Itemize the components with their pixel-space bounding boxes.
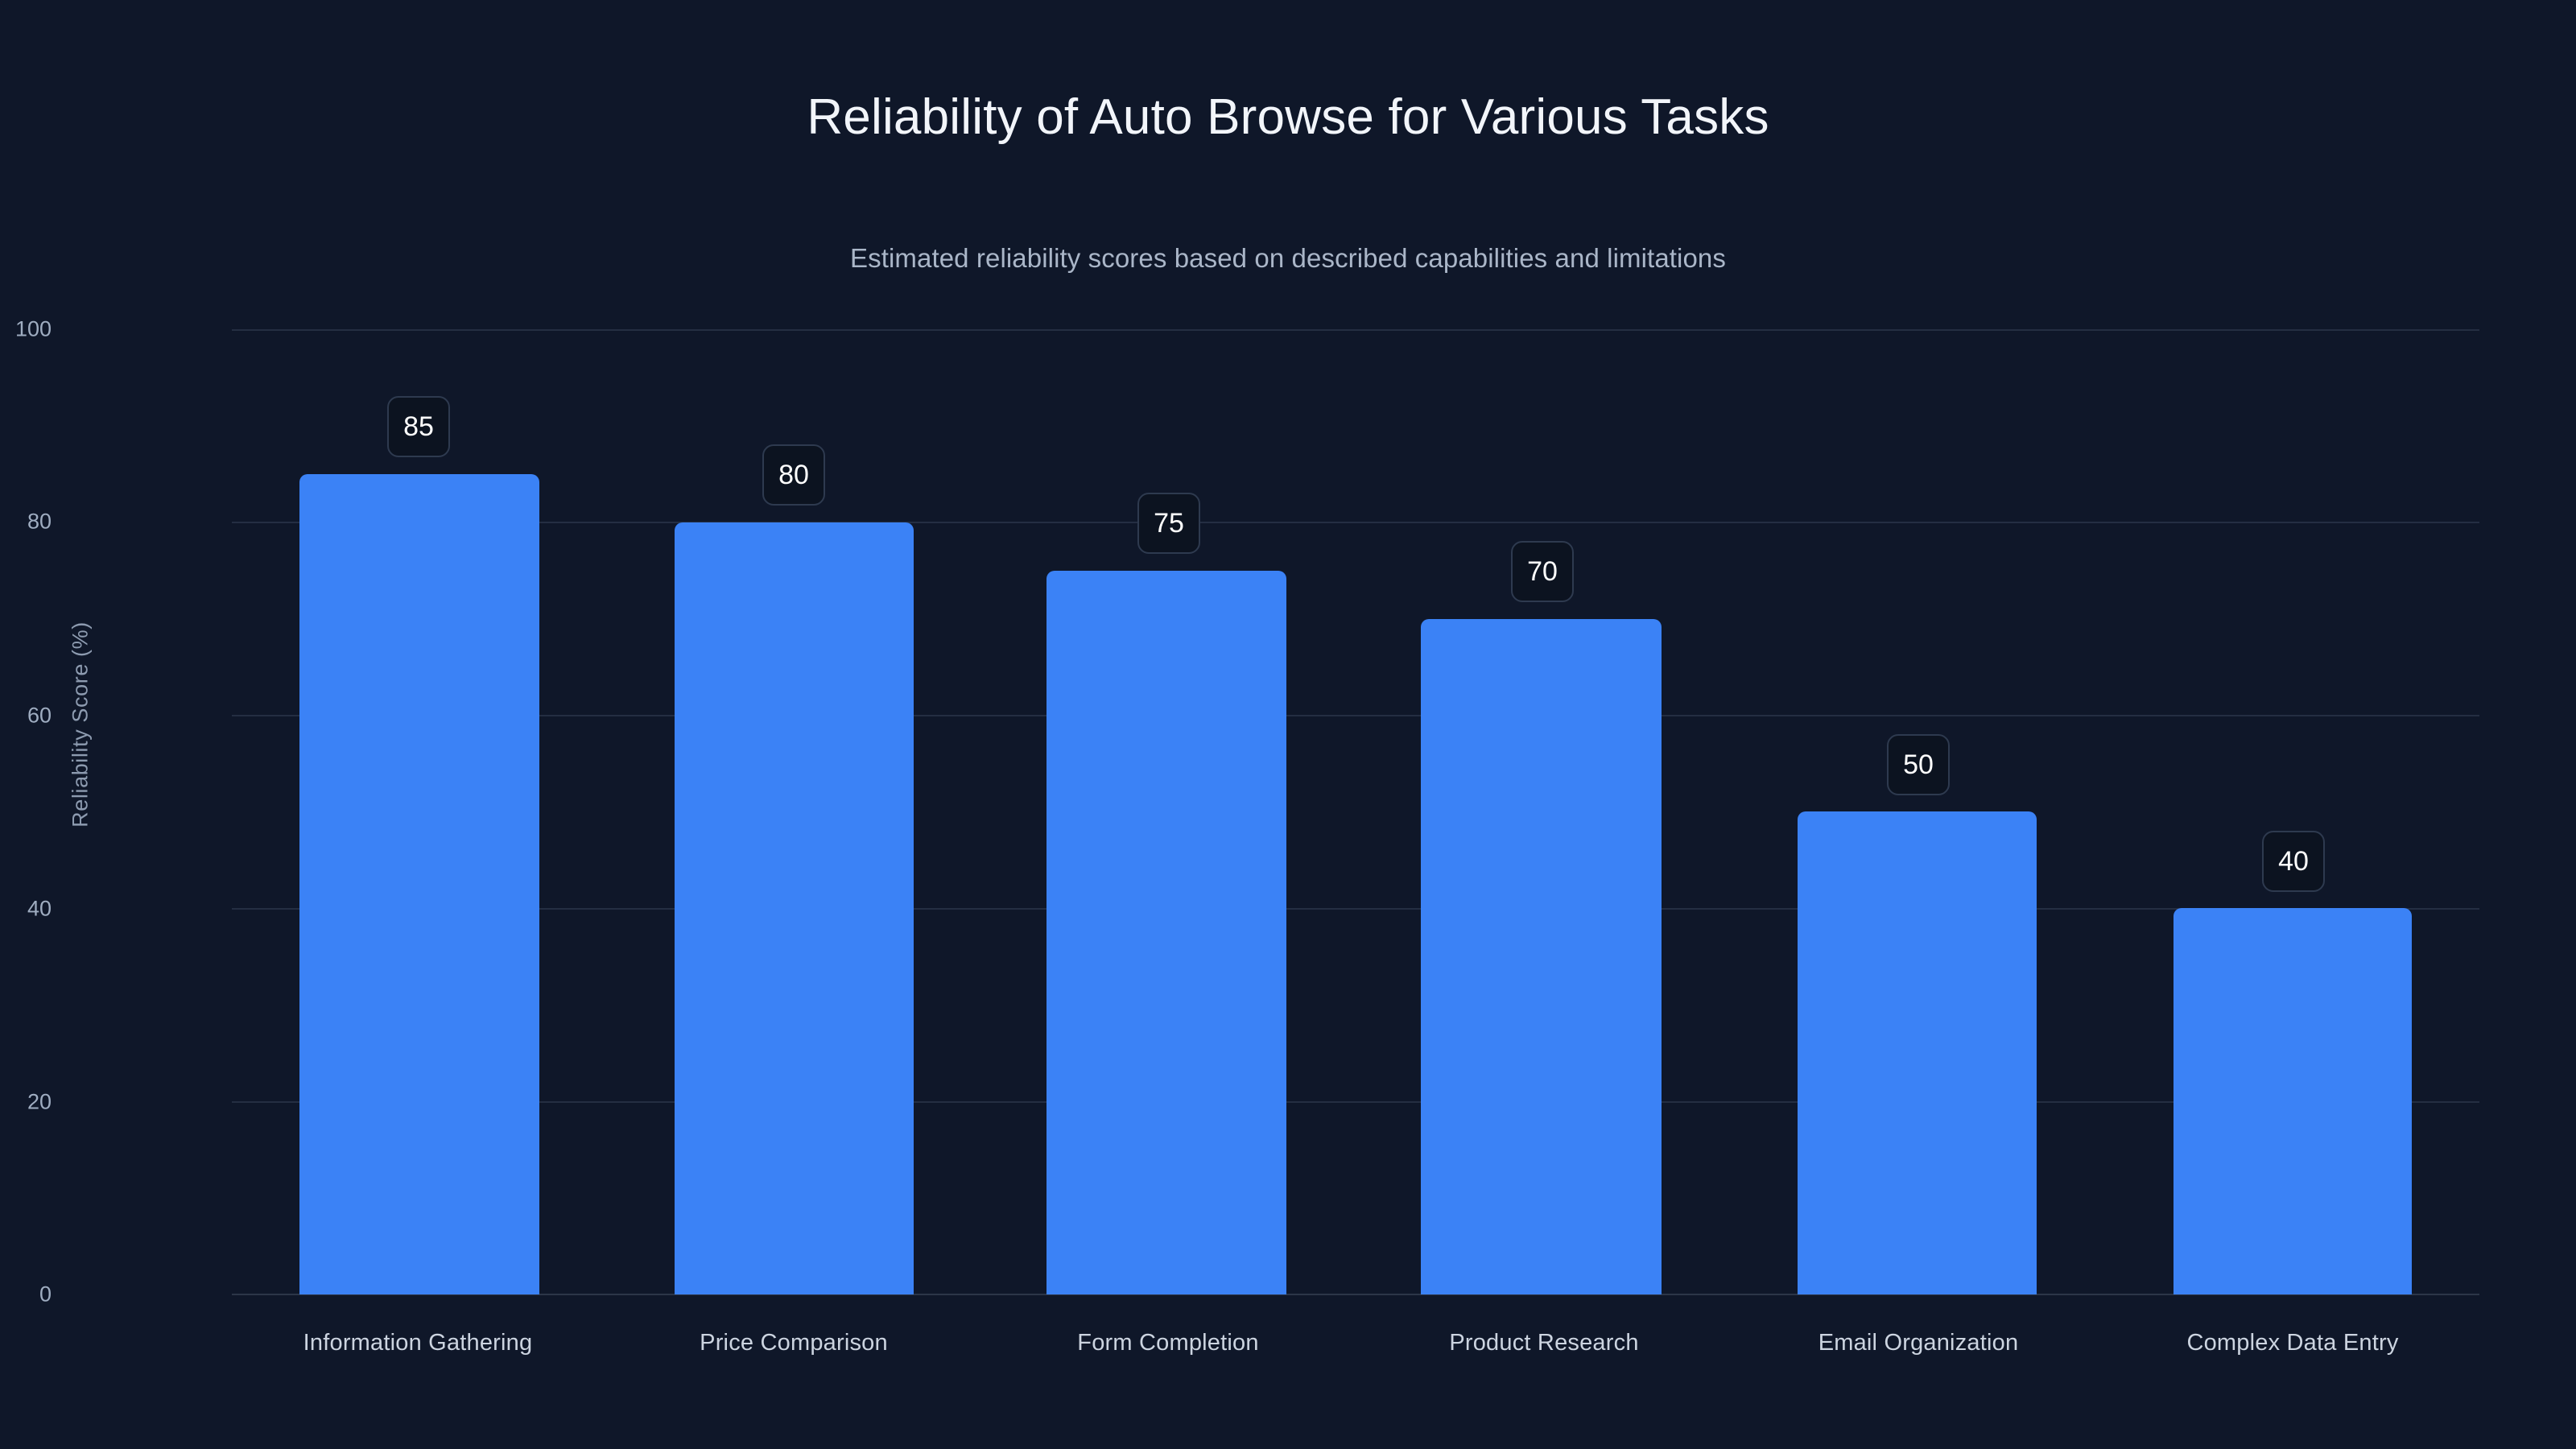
bar-price-comparison[interactable]	[675, 522, 914, 1294]
x-tick-information-gathering: Information Gathering	[208, 1330, 627, 1356]
axis-baseline	[232, 1294, 2479, 1295]
x-tick-form-completion: Form Completion	[959, 1330, 1377, 1356]
bar-email-organization[interactable]	[1798, 811, 2037, 1294]
value-badge-information-gathering: 85	[387, 396, 450, 457]
gridline-100	[232, 329, 2479, 331]
value-badge-form-completion: 75	[1137, 493, 1200, 554]
gridline-60	[232, 715, 2479, 716]
chart-subtitle: Estimated reliability scores based on de…	[0, 243, 2576, 274]
value-badge-price-comparison: 80	[762, 444, 825, 506]
bar-product-research[interactable]	[1421, 619, 1662, 1294]
y-tick-60: 60	[0, 704, 52, 729]
bar-information-gathering[interactable]	[299, 474, 539, 1294]
x-tick-email-organization: Email Organization	[1709, 1330, 2128, 1356]
plot-area	[232, 329, 2479, 1294]
y-tick-100: 100	[0, 317, 52, 342]
y-axis-title: Reliability Score (%)	[68, 621, 93, 828]
x-tick-complex-data-entry: Complex Data Entry	[2083, 1330, 2502, 1356]
gridline-20	[232, 1101, 2479, 1103]
gridline-40	[232, 908, 2479, 910]
y-tick-20: 20	[0, 1090, 52, 1115]
x-tick-price-comparison: Price Comparison	[584, 1330, 1003, 1356]
x-tick-product-research: Product Research	[1335, 1330, 1753, 1356]
y-tick-80: 80	[0, 510, 52, 535]
chart-canvas: Reliability of Auto Browse for Various T…	[0, 0, 2576, 1449]
bar-form-completion[interactable]	[1046, 571, 1286, 1294]
chart-title: Reliability of Auto Browse for Various T…	[0, 89, 2576, 146]
value-badge-product-research: 70	[1511, 541, 1574, 602]
bar-complex-data-entry[interactable]	[2173, 908, 2412, 1294]
value-badge-complex-data-entry: 40	[2262, 831, 2325, 892]
y-tick-0: 0	[0, 1282, 52, 1307]
value-badge-email-organization: 50	[1887, 734, 1950, 795]
y-tick-40: 40	[0, 897, 52, 922]
gridline-80	[232, 522, 2479, 523]
